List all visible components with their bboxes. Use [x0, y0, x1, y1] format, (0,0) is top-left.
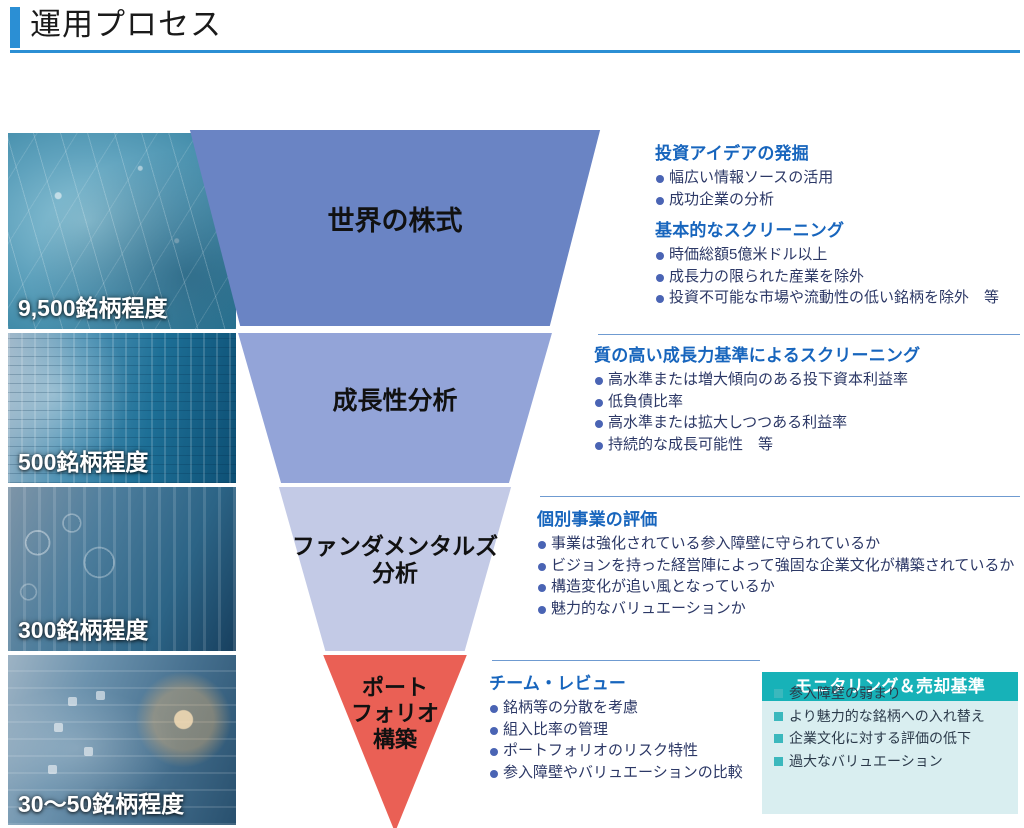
funnel-tier-label-4: ポート フォリオ 構築 — [180, 675, 610, 753]
list-item: 成長力の限られた産業を除外 — [655, 266, 999, 288]
person-node-icon — [48, 765, 57, 774]
page-title: 運用プロセス — [30, 4, 222, 46]
funnel-diagram: 世界の株式 成長性分析 ファンダメンタルズ 分析 ポート フォリオ 構築 — [180, 130, 610, 828]
funnel-tier-label-1: 世界の株式 — [180, 206, 610, 238]
section-1-heading-2: 基本的なスクリーニング — [655, 219, 999, 242]
person-node-icon — [96, 691, 105, 700]
stage-count-label-1: 9,500銘柄程度 — [18, 289, 168, 323]
list-item: 成功企業の分析 — [655, 189, 999, 211]
section-1-bullets-1: 幅広い情報ソースの活用 成功企業の分析 — [655, 167, 999, 210]
funnel-tier-global-equities: 世界の株式 — [180, 130, 610, 326]
list-item: 低負債比率 — [594, 391, 920, 413]
section-divider-2 — [540, 496, 1020, 497]
header-divider — [10, 50, 1020, 53]
section-1-bullets-2: 時価総額5億米ドル以上 成長力の限られた産業を除外 投資不可能な市場や流動性の低… — [655, 244, 999, 309]
monitoring-box-items: 参入障壁の弱まり より魅力的な銘柄への入れ替え 企業文化に対する評価の低下 過大… — [774, 682, 1018, 772]
section-2-bullets: 高水準または増大傾向のある投下資本利益率 低負債比率 高水準または拡大しつつある… — [594, 369, 920, 455]
list-item: 高水準または拡大しつつある利益率 — [594, 412, 920, 434]
section-3-heading: 個別事業の評価 — [537, 508, 1014, 531]
title-accent-bar — [10, 7, 20, 48]
funnel-tier-label-4-line3: 構築 — [180, 727, 610, 753]
section-1-heading-1: 投資アイデアの発掘 — [655, 142, 999, 165]
funnel-tier-label-3-line1: ファンダメンタルズ — [180, 533, 610, 560]
funnel-tier-label-3: ファンダメンタルズ 分析 — [180, 533, 610, 587]
stage-count-label-2: 500銘柄程度 — [18, 443, 148, 477]
stage-count-label-3: 300銘柄程度 — [18, 611, 148, 645]
spacer — [655, 210, 999, 219]
list-item: より魅力的な銘柄への入れ替え — [774, 705, 1018, 728]
person-node-icon — [68, 697, 77, 706]
list-item: 魅力的なバリュエーションか — [537, 598, 1014, 620]
list-item: 持続的な成長可能性 等 — [594, 434, 920, 456]
funnel-tier-label-3-line2: 分析 — [180, 560, 610, 587]
funnel-tier-portfolio: ポート フォリオ 構築 — [180, 655, 610, 828]
section-quality-growth-screening: 質の高い成長力基準によるスクリーニング 高水準または増大傾向のある投下資本利益率… — [594, 344, 920, 455]
person-node-icon — [84, 747, 93, 756]
funnel-tier-label-2: 成長性分析 — [180, 387, 610, 417]
process-infographic: 運用プロセス 9,500銘柄程度 500銘柄程度 300銘柄程度 30〜50銘柄… — [0, 0, 1024, 828]
section-divider-3 — [492, 660, 760, 661]
page-header: 運用プロセス — [0, 0, 1024, 60]
section-2-heading: 質の高い成長力基準によるスクリーニング — [594, 344, 920, 367]
funnel-tier-label-4-line1: ポート — [180, 675, 610, 701]
stage-count-label-4: 30〜50銘柄程度 — [18, 785, 184, 819]
list-item: 参入障壁の弱まり — [774, 682, 1018, 705]
list-item: 時価総額5億米ドル以上 — [655, 244, 999, 266]
person-node-icon — [54, 723, 63, 732]
list-item: 参入障壁やバリュエーションの比較 — [489, 762, 743, 784]
monitoring-sell-criteria-box: モニタリング＆売却基準 参入障壁の弱まり より魅力的な銘柄への入れ替え 企業文化… — [762, 672, 1018, 814]
section-idea-generation: 投資アイデアの発掘 幅広い情報ソースの活用 成功企業の分析 基本的なスクリーニン… — [655, 142, 999, 309]
list-item: 投資不可能な市場や流動性の低い銘柄を除外 等 — [655, 287, 999, 309]
list-item: 幅広い情報ソースの活用 — [655, 167, 999, 189]
funnel-tier-growth-analysis: 成長性分析 — [180, 333, 610, 483]
list-item: 過大なバリュエーション — [774, 750, 1018, 773]
section-divider-1 — [598, 334, 1020, 335]
funnel-tier-label-4-line2: フォリオ — [180, 701, 610, 727]
list-item: 企業文化に対する評価の低下 — [774, 727, 1018, 750]
list-item: 高水準または増大傾向のある投下資本利益率 — [594, 369, 920, 391]
